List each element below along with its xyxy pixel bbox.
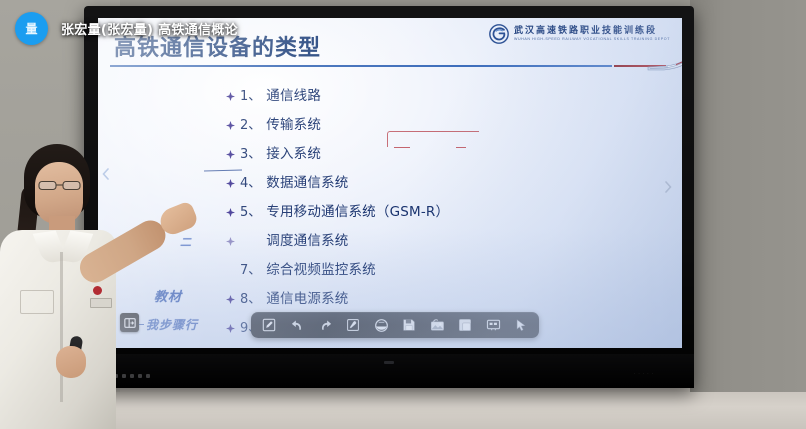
save-button[interactable] bbox=[396, 315, 422, 335]
diamond-bullet-icon bbox=[226, 237, 235, 246]
insert-image-button[interactable] bbox=[424, 315, 450, 335]
diamond-bullet-icon bbox=[226, 150, 235, 159]
institution-logo: 武汉高速铁路职业技能训练段 WUHAN HIGH-SPEED RAILWAY V… bbox=[489, 24, 670, 44]
handwritten-note-2: 我步骤行 bbox=[146, 316, 198, 333]
list-item-number: 8、 bbox=[240, 288, 261, 307]
whiteboard-button[interactable] bbox=[480, 315, 506, 335]
list-item-label: 通信电源系统 bbox=[266, 287, 348, 307]
list-item-label: 综合视频监控系统 bbox=[266, 258, 376, 278]
presenter-shirt-pocket bbox=[20, 290, 54, 314]
diamond-bullet-icon bbox=[226, 179, 235, 188]
presenter-hand-holding-mic bbox=[56, 346, 86, 378]
presenter-nametag bbox=[90, 298, 112, 308]
presenter-face bbox=[35, 162, 83, 224]
list-item: 4、 数据通信系统 bbox=[226, 171, 472, 191]
list-item-label: 调度通信系统 bbox=[266, 229, 348, 249]
list-item: 7、 综合视频监控系统 bbox=[226, 258, 472, 278]
presenter-person bbox=[0, 140, 124, 429]
avatar[interactable]: 量 bbox=[15, 12, 48, 45]
wall-right bbox=[690, 0, 806, 429]
diamond-bullet-icon bbox=[226, 324, 235, 333]
high-speed-train-graphic bbox=[646, 54, 682, 72]
insert-image-icon bbox=[430, 318, 445, 332]
ir-sensor bbox=[384, 361, 394, 364]
save-icon bbox=[402, 318, 416, 332]
display-brand-mark: · · · · · bbox=[634, 371, 654, 376]
color-palette-button[interactable] bbox=[368, 315, 394, 335]
list-item: 5、 专用移动通信系统（GSM-R） bbox=[226, 200, 472, 220]
diamond-bullet-icon bbox=[226, 121, 235, 130]
chevron-right-icon[interactable] bbox=[664, 181, 672, 193]
presentation-slide[interactable]: 高铁通信设备的类型 武汉高速铁路职业技能训练段 WUHAN HIGH-SPEED… bbox=[98, 18, 682, 348]
whiteboard-icon bbox=[486, 318, 501, 332]
handwritten-note-3: 二 bbox=[180, 234, 191, 250]
diamond-bullet-icon bbox=[226, 295, 235, 304]
list-item: 8、 通信电源系统 bbox=[226, 287, 472, 307]
redo-button[interactable] bbox=[312, 315, 338, 335]
layers-button[interactable] bbox=[452, 315, 478, 335]
page-title: 张宏量(张宏量) 高铁通信概论 bbox=[61, 19, 238, 38]
pen-button[interactable] bbox=[256, 315, 282, 335]
undo-button[interactable] bbox=[284, 315, 310, 335]
list-item: 6、 调度通信系统 bbox=[226, 229, 472, 249]
diamond-bullet-icon bbox=[226, 208, 235, 217]
list-item-label: 通信线路 bbox=[266, 84, 321, 104]
cursor-select-button[interactable] bbox=[508, 315, 534, 335]
list-item-number: 3、 bbox=[240, 143, 261, 162]
undo-icon bbox=[290, 318, 305, 333]
list-item-label: 数据通信系统 bbox=[266, 171, 348, 191]
list-item-number: 5、 bbox=[240, 201, 261, 220]
list-item-number: 7、 bbox=[240, 259, 261, 278]
color-palette-icon bbox=[374, 318, 389, 333]
swirl-g-logo-icon bbox=[489, 24, 509, 44]
eraser-icon bbox=[346, 318, 360, 332]
title-underline-blue bbox=[110, 65, 612, 67]
presenter-glasses bbox=[38, 180, 82, 191]
list-item: 1、 通信线路 bbox=[226, 84, 472, 104]
logo-text-cn: 武汉高速铁路职业技能训练段 bbox=[514, 27, 670, 36]
list-item-label: 接入系统 bbox=[266, 142, 321, 162]
annotation-toolbar[interactable] bbox=[251, 312, 539, 338]
redo-icon bbox=[318, 318, 333, 333]
presenter-badge bbox=[93, 286, 102, 295]
cursor-arrow-icon bbox=[514, 318, 528, 332]
list-item-label: 传输系统 bbox=[266, 113, 321, 133]
list-item: 2、 传输系统 bbox=[226, 113, 472, 133]
eraser-button[interactable] bbox=[340, 315, 366, 335]
presenter-shirt-placket bbox=[60, 252, 63, 402]
bullet-list: 1、 通信线路 2、 传输系统 3、 接入系统 4、 数据通信系统 bbox=[226, 84, 472, 336]
list-item-number: 4、 bbox=[240, 172, 261, 191]
list-item-number: 2、 bbox=[240, 114, 261, 133]
handwritten-note-1: 教材 bbox=[154, 286, 182, 305]
panel-toggle-icon bbox=[124, 317, 136, 329]
list-item-label: 专用移动通信系统（GSM-R） bbox=[266, 200, 449, 220]
pen-icon bbox=[262, 318, 276, 332]
list-item-number: 1、 bbox=[240, 85, 261, 104]
bezel-bottom-strip: · · · · · bbox=[84, 354, 694, 388]
logo-text-en: WUHAN HIGH-SPEED RAILWAY VOCATIONAL SKIL… bbox=[514, 38, 670, 42]
layers-icon bbox=[458, 318, 472, 332]
diamond-bullet-icon bbox=[226, 92, 235, 101]
ink-annotation-gsm-bracket bbox=[387, 131, 479, 147]
ink-annotation-underline-g bbox=[394, 147, 410, 148]
ink-annotation-underline-r bbox=[456, 147, 466, 148]
